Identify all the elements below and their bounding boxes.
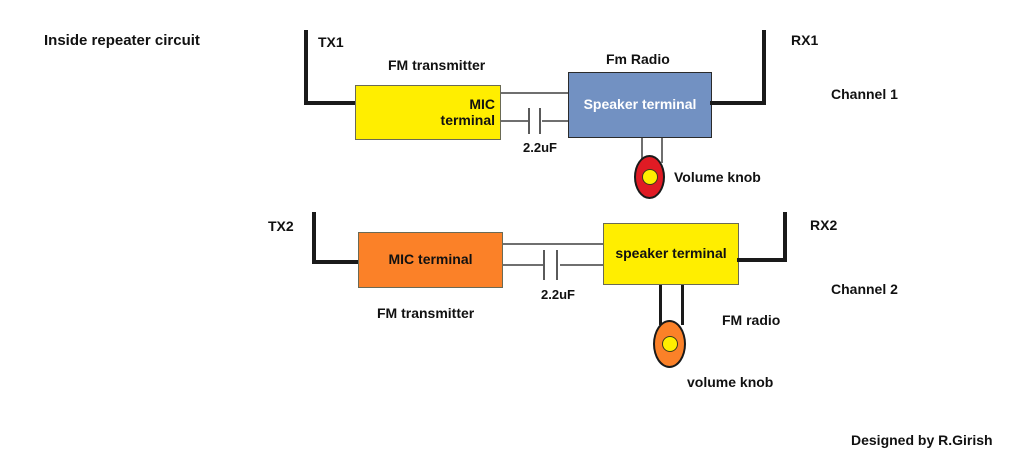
channel1-knob-lead-right [661,138,663,163]
channel1-speaker-terminal-label: Speaker terminal [584,97,697,113]
channel1-capacitor-label: 2.2uF [523,141,557,154]
channel2-speaker-terminal-label: speaker terminal [615,246,726,262]
diagram-title: Inside repeater circuit [44,33,200,48]
channel2-link-wire-left [503,264,543,266]
channel1-radio-caption: Fm Radio [606,52,670,66]
channel2-fm-radio-box[interactable]: speaker terminal [603,223,739,285]
tx1-antenna-feed [304,101,358,105]
designer-credit: Designed by R.Girish [851,433,993,447]
channel1-knob-label: Volume knob [674,170,761,184]
rx2-antenna-mast [783,212,787,262]
channel2-transmitter-caption: FM transmitter [377,306,474,320]
tx2-antenna-label: TX2 [268,219,294,233]
channel1-link-wire-top [501,92,569,94]
channel1-mic-terminal-label: MIC terminal [441,97,495,128]
channel2-mic-terminal-label: MIC terminal [388,252,472,268]
rx2-antenna-label: RX2 [810,218,837,232]
channel1-volume-knob-core [642,169,658,185]
rx1-antenna-mast [762,30,766,105]
channel2-knob-label: volume knob [687,375,773,389]
rx1-antenna-feed [710,101,766,105]
repeater-circuit-diagram: Inside repeater circuit TX1 FM transmitt… [0,0,1024,460]
channel2-fm-transmitter-box[interactable]: MIC terminal [358,232,503,288]
channel2-capacitor-label: 2.2uF [541,288,575,301]
channel1-fm-radio-box[interactable]: Speaker terminal [568,72,712,138]
rx1-antenna-label: RX1 [791,33,818,47]
channel2-volume-knob[interactable] [653,320,686,368]
channel1-link-wire-left [501,120,528,122]
tx2-antenna-feed [312,260,360,264]
channel1-transmitter-caption: FM transmitter [388,58,485,72]
channel1-fm-transmitter-box[interactable]: MIC terminal [355,85,501,140]
rx2-antenna-feed [737,258,787,262]
channel2-link-wire-top [503,243,604,245]
tx1-antenna-mast [304,30,308,105]
channel2-volume-knob-core [662,336,678,352]
channel2-knob-lead-left [659,285,662,325]
channel2-radio-caption: FM radio [722,313,780,327]
channel2-link-wire-right [560,264,604,266]
channel2-capacitor-plate-left [543,250,545,280]
channel1-capacitor-plate-left [528,108,530,134]
channel1-volume-knob[interactable] [634,155,665,199]
tx2-antenna-mast [312,212,316,264]
channel2-capacitor-plate-right [556,250,558,280]
channel1-link-wire-right [542,120,569,122]
channel1-name-label: Channel 1 [831,87,898,101]
channel1-capacitor-plate-right [539,108,541,134]
tx1-antenna-label: TX1 [318,35,344,49]
channel2-knob-lead-right [681,285,684,325]
channel2-name-label: Channel 2 [831,282,898,296]
